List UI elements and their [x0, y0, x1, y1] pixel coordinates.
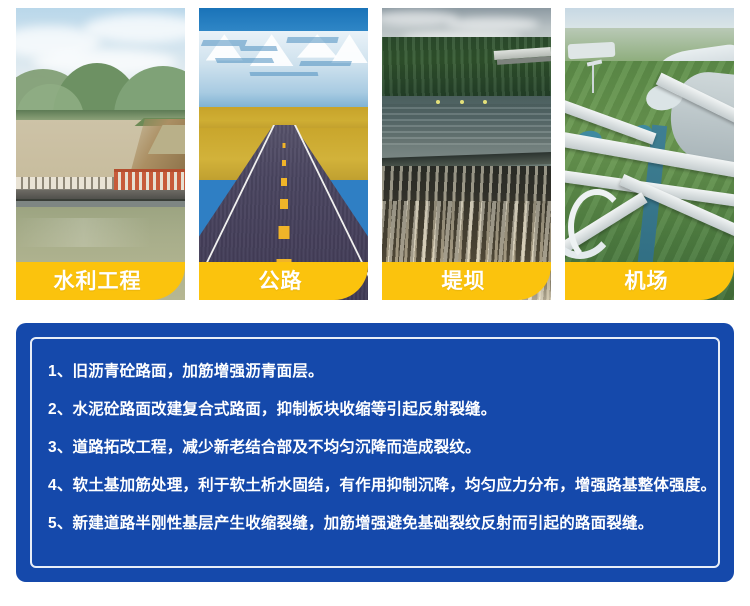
highway-snow-mountain-photo — [199, 8, 368, 300]
river-dam-aerial-photo — [16, 8, 185, 300]
list-item: 2、水泥砼路面改建复合式路面，抑制板块收缩等引起反射裂缝。 — [48, 391, 714, 429]
airport-interchange-aerial-photo — [565, 8, 734, 300]
application-areas-page: 水利工程 — [0, 0, 750, 606]
list-item: 5、新建道路半刚性基层产生收缩裂缝，加筋增强避免基础裂纹反射而引起的路面裂缝。 — [48, 505, 714, 543]
gallery-tile-label-water-conservancy: 水利工程 — [16, 262, 185, 300]
gallery-tile-label-highway: 公路 — [199, 262, 368, 300]
list-item: 4、软土基加筋处理，利于软土析水固结，有作用抑制沉降，均匀应力分布，增强路基整体… — [48, 467, 714, 505]
gallery-tile-water-conservancy[interactable]: 水利工程 — [16, 8, 185, 300]
category-gallery: 水利工程 — [16, 8, 734, 300]
gallery-tile-highway[interactable]: 公路 — [199, 8, 368, 300]
gallery-tile-label-embankment: 堤坝 — [382, 262, 551, 300]
gallery-tile-label-text: 堤坝 — [442, 271, 492, 292]
gallery-tile-airport[interactable]: 机场 — [565, 8, 734, 300]
spillway-cascading-water-photo — [382, 8, 551, 300]
list-item: 3、道路拓改工程，减少新老结合部及不均匀沉降而造成裂纹。 — [48, 429, 714, 467]
gallery-tile-embankment[interactable]: 堤坝 — [382, 8, 551, 300]
application-list-panel: 1、旧沥青砼路面，加筋增强沥青面层。 2、水泥砼路面改建复合式路面，抑制板块收缩… — [16, 323, 734, 582]
gallery-tile-label-airport: 机场 — [565, 262, 734, 300]
gallery-tile-label-text: 公路 — [259, 271, 309, 292]
gallery-tile-label-text: 水利工程 — [54, 271, 148, 292]
list-item: 1、旧沥青砼路面，加筋增强沥青面层。 — [48, 353, 714, 391]
gallery-tile-label-text: 机场 — [625, 271, 675, 292]
application-list: 1、旧沥青砼路面，加筋增强沥青面层。 2、水泥砼路面改建复合式路面，抑制板块收缩… — [48, 353, 714, 543]
